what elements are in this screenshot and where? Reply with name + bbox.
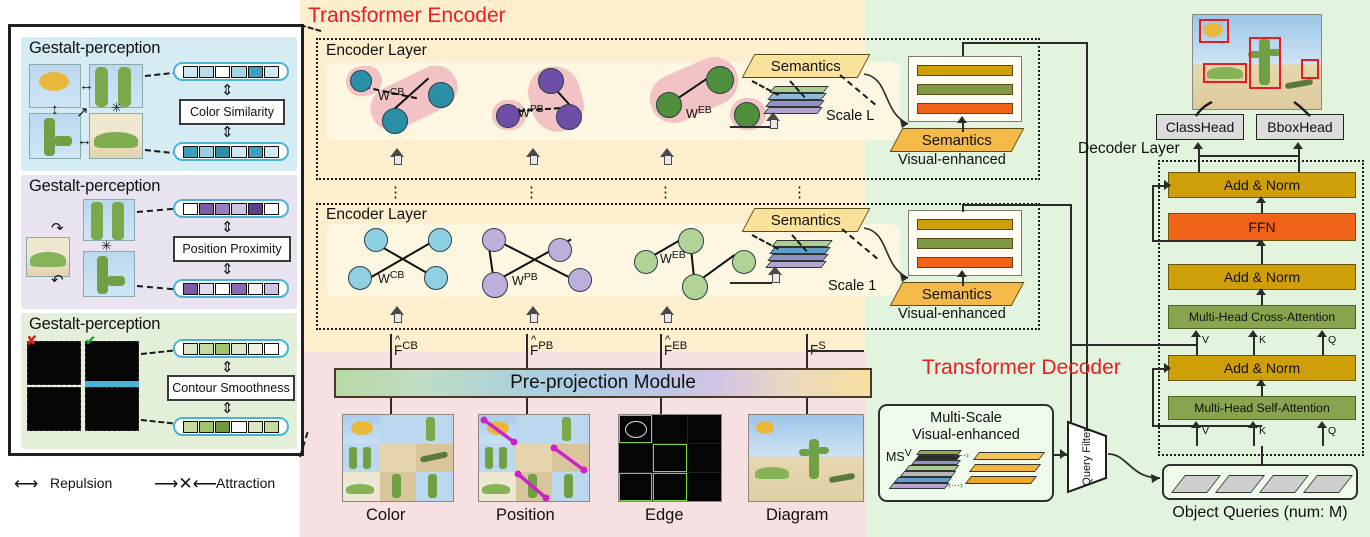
- decoder-layer-label: Decoder Layer: [1078, 140, 1180, 158]
- vkq-label-k: K: [1259, 334, 1266, 346]
- weight-label-eb: WEB: [686, 105, 712, 121]
- thumb-cactus-v: [83, 251, 135, 297]
- gestalt-block-position-proximity: Gestalt-perception ↷ ↶ ✳: [21, 175, 297, 309]
- repulsion-arrow-icon: ↗: [76, 103, 89, 121]
- connector: [660, 334, 662, 368]
- decoder-self-attention[interactable]: Multi-Head Self-Attention: [1168, 396, 1356, 420]
- query-filter[interactable]: Query Filter: [1066, 420, 1108, 494]
- feature-label-pb: ^FPB: [530, 340, 553, 358]
- dashed-connector: [137, 285, 173, 290]
- thumb-cactus-pair: [83, 199, 135, 241]
- object-queries-label: Object Queries (num: M): [1152, 504, 1368, 522]
- vkq-label-q: Q: [1328, 334, 1336, 346]
- graph-node: [496, 104, 520, 128]
- bbox-small-plant: [1301, 59, 1319, 79]
- head-feed-bridge: [1198, 155, 1298, 157]
- graph-node: [548, 238, 572, 262]
- updown-arrow-icon: ⇕: [221, 399, 234, 417]
- connector: [806, 398, 808, 414]
- gestalt-title: Gestalt-perception: [29, 315, 160, 334]
- thumb-cactus-v: [29, 113, 81, 159]
- updown-arrow-icon: ⇕: [221, 123, 234, 141]
- scale-feed-arrow: [766, 112, 780, 128]
- residual-line: [1152, 185, 1154, 241]
- head-feed-arrow-bbox: [1293, 142, 1303, 149]
- connector-arrow-k: [1248, 421, 1258, 428]
- vkq-label-v: V: [1202, 334, 1209, 346]
- decoder-add-norm-1[interactable]: Add & Norm: [1168, 355, 1356, 381]
- modality-label-color: Color: [366, 506, 405, 525]
- connector-arrow-v: [1191, 421, 1201, 428]
- classhead-connector: [1190, 100, 1224, 118]
- graph-node: [424, 266, 448, 290]
- feature-label-s: FS: [810, 340, 826, 358]
- object-queries-box: [1162, 464, 1358, 500]
- curved-connector-bottom: [860, 216, 920, 288]
- graph-node: [556, 104, 582, 130]
- fs-routing-line: [806, 350, 864, 352]
- weight-label-cb: WCB: [378, 87, 404, 103]
- weight-label-pb: WPB: [512, 272, 538, 288]
- repulsion-arrow-icon: ↕: [51, 101, 59, 118]
- graph-node: [382, 108, 408, 134]
- input-arrow-eb: [660, 306, 674, 322]
- connector-arrow: [1256, 196, 1266, 203]
- modality-tiles-edge: [618, 414, 722, 502]
- check-mark-icon: ✔: [85, 333, 96, 349]
- token-strip-bottom: [173, 417, 289, 436]
- encoder-output-line-bottom-v: [962, 204, 964, 212]
- object-query-item: [1171, 475, 1221, 493]
- updown-arrow-icon: ⇕: [221, 358, 234, 376]
- encoder-output-line-top: [962, 42, 1088, 44]
- updown-arrow-icon: ⇕: [221, 260, 234, 278]
- connector: [390, 334, 392, 368]
- input-arrow-pb: [526, 306, 540, 322]
- decoder-cross-attention[interactable]: Multi-Head Cross-Attention: [1168, 305, 1356, 329]
- thumb-edge-good-bottom: [85, 387, 139, 431]
- head-feed-arrow-class: [1193, 142, 1203, 149]
- pre-projection-label: Pre-projection Module: [510, 372, 696, 394]
- graph-node: [568, 268, 592, 292]
- graph-node: [348, 266, 372, 290]
- connector: [390, 398, 392, 414]
- visual-enhanced-box-top: [908, 56, 1022, 122]
- connector: [962, 276, 964, 286]
- ms-sheet-enhanced: [973, 452, 1045, 460]
- weight-label-cb: WCB: [378, 270, 404, 286]
- decoder-section-title: Transformer Decoder: [922, 356, 1121, 380]
- scale-feed-line: [730, 282, 772, 284]
- input-arrow-cb: [390, 306, 404, 322]
- queries-to-decoder-line: [1261, 446, 1263, 466]
- encoder-output-line-bottom: [962, 204, 1072, 206]
- graph-node: [428, 228, 452, 252]
- decoder-ffn[interactable]: FFN: [1168, 213, 1356, 241]
- connector-arrow-v: [1191, 330, 1201, 337]
- scale-sheet: [765, 100, 824, 107]
- repulsion-arrow-icon: ⟷: [14, 474, 38, 494]
- relation-label-contour-smoothness: Contour Smoothness: [167, 375, 295, 401]
- scale-sheet: [767, 254, 828, 261]
- modality-label-position: Position: [496, 506, 555, 525]
- residual-line: [1152, 368, 1154, 426]
- gestalt-block-contour-smoothness: Gestalt-perception ✘ ✔ ⇕ ⇕ Contour: [21, 313, 297, 449]
- gestalt-title: Gestalt-perception: [29, 39, 160, 58]
- token-strip-top: [173, 62, 289, 81]
- encoder-to-decoder-bus-2: [1070, 204, 1072, 430]
- feature-bar: [917, 257, 1013, 268]
- object-query-item: [1259, 475, 1309, 493]
- thumb-edge-bad-bottom: [27, 387, 81, 431]
- feature-bar: [917, 219, 1013, 230]
- token-strip-top: [173, 339, 289, 358]
- graph-node: [364, 228, 388, 252]
- cross-mark-icon: ✘: [26, 333, 37, 349]
- bboxhead-connector: [1284, 100, 1318, 118]
- token-strip-bottom: [173, 279, 289, 298]
- ms-tensor-label: MSV: [886, 448, 912, 464]
- decoder-add-norm-3[interactable]: Add & Norm: [1168, 172, 1356, 198]
- vkq-label-v: V: [1202, 425, 1209, 437]
- token-strip-top: [173, 199, 289, 218]
- position-links-overlay: [478, 414, 590, 502]
- connector-arrow-k: [1248, 330, 1258, 337]
- encoder-layer-label: Encoder Layer: [326, 206, 427, 224]
- graph-node: [428, 82, 454, 108]
- graph-node: [732, 250, 756, 274]
- attraction-arrow-icon: ↔: [77, 132, 92, 149]
- dashed-connector: [141, 419, 173, 424]
- legend-label-attraction: Attraction: [216, 475, 275, 491]
- feature-bar: [917, 238, 1013, 249]
- bbox-shrub: [1203, 63, 1247, 83]
- modality-tile-diagram: [748, 414, 864, 502]
- relation-label-color-similarity: Color Similarity: [179, 99, 285, 125]
- weight-label-eb: WEB: [660, 250, 686, 266]
- semantics-plane-top: Semantics: [742, 54, 871, 78]
- vkq-label-k: K: [1259, 425, 1266, 437]
- feature-label-eb: ^FEB: [664, 340, 687, 358]
- attraction-arrow-icon: ⟶✕⟵: [154, 474, 217, 494]
- ellipsis-pb: ⋮: [524, 183, 539, 201]
- attraction-arrow-icon: ✳: [101, 238, 112, 254]
- head-feed-line-class: [1198, 146, 1200, 172]
- gestalt-perception-panel: Gestalt-perception ↔ ↕ ↗ ✳ ↔: [8, 24, 304, 456]
- repulsion-arrow-icon: ↶: [51, 271, 64, 289]
- connector: [660, 398, 662, 414]
- feature-bar: [917, 84, 1013, 95]
- bbox-sun: [1199, 19, 1229, 43]
- head-feed-line-bbox: [1298, 146, 1300, 172]
- ms-sheet: [889, 483, 950, 489]
- graph-node: [706, 66, 734, 94]
- graph-node: [482, 228, 506, 252]
- connector-arrow-q: [1317, 421, 1327, 428]
- residual-arrow: [1164, 180, 1171, 190]
- graph-node: [682, 274, 708, 300]
- filter-to-queries-connector: [1106, 436, 1166, 484]
- input-arrow-eb: [660, 148, 674, 164]
- connector-arrow: [957, 270, 967, 277]
- repulsion-arrow-icon: ↷: [51, 219, 64, 237]
- feature-bar: [917, 103, 1013, 114]
- updown-arrow-icon: ⇕: [221, 218, 234, 236]
- highlight-bar: [85, 381, 139, 387]
- decoder-add-norm-2[interactable]: Add & Norm: [1168, 264, 1356, 290]
- connector: [526, 398, 528, 414]
- relation-label-position-proximity: Position Proximity: [173, 236, 291, 262]
- gestalt-block-color-similarity: Gestalt-perception ↔ ↕ ↗ ✳ ↔: [21, 37, 297, 171]
- encoder-output-line-top-v: [962, 42, 964, 56]
- graph-node: [538, 68, 564, 94]
- visual-enhanced-label-bottom: Visual-enhanced: [898, 306, 1006, 322]
- legend-label-repulsion: Repulsion: [50, 475, 112, 491]
- input-arrow-pb: [526, 148, 540, 164]
- multi-scale-visual-enhanced-box: Multi-Scale Visual-enhanced MSV ‹⋯› ‹⋯›: [878, 404, 1054, 502]
- dashed-connector: [141, 350, 173, 355]
- updown-arrow-icon: ⇕: [221, 81, 234, 99]
- object-query-item: [1215, 475, 1265, 493]
- weight-label-pb: WPB: [518, 104, 544, 120]
- connector: [962, 122, 964, 132]
- curved-connector-top: [860, 62, 920, 134]
- encoder-to-crossattn-line: [1070, 344, 1196, 346]
- encoder-to-decoder-bus: [1086, 42, 1088, 472]
- graph-node: [634, 250, 658, 274]
- modality-tiles-color: [342, 414, 454, 502]
- residual-arrow: [1164, 363, 1171, 373]
- ms-sheet-enhanced: [969, 464, 1041, 472]
- input-arrow-cb: [390, 148, 404, 164]
- multi-scale-title-line2: Visual-enhanced: [880, 427, 1052, 443]
- connector-arrow: [1256, 379, 1266, 386]
- graph-node: [482, 272, 508, 298]
- semantics-plane-bottom: Semantics: [742, 208, 871, 232]
- encoder-layer-label: Encoder Layer: [326, 42, 427, 60]
- feature-label-cb: ^FCB: [394, 340, 418, 358]
- graph-node: [734, 102, 760, 128]
- bidirectional-dotted-arrow-icon: ‹⋯›: [948, 480, 963, 491]
- pre-projection-module[interactable]: Pre-projection Module: [334, 368, 872, 398]
- gestalt-title: Gestalt-perception: [29, 177, 160, 196]
- visual-enhanced-box-bottom: [908, 210, 1022, 276]
- ellipsis-scale: ⋮: [792, 183, 807, 201]
- bbox-cactus: [1249, 37, 1281, 89]
- legend: ⟷ Repulsion ⟶✕⟵ Attraction: [14, 470, 300, 500]
- scale-feed-arrow: [768, 266, 782, 282]
- ms-sheet-enhanced: [965, 476, 1037, 484]
- object-query-item: [1303, 475, 1353, 493]
- modality-label-diagram: Diagram: [766, 506, 828, 525]
- output-detection-image: [1192, 14, 1322, 110]
- thumb-shrub: [89, 113, 143, 159]
- multi-scale-title-line1: Multi-Scale: [880, 410, 1052, 426]
- connector-arrow-q: [1317, 330, 1327, 337]
- residual-line: [1152, 240, 1262, 242]
- ellipsis-cb: ⋮: [388, 183, 403, 201]
- repulsion-arrow-icon: ↔: [79, 77, 94, 94]
- dashed-connector: [137, 208, 173, 213]
- ellipsis-eb: ⋮: [658, 183, 673, 201]
- feature-bar: [917, 65, 1013, 76]
- connector-arrow: [1256, 288, 1266, 295]
- vkq-label-q: Q: [1328, 425, 1336, 437]
- encoder-section-title: Transformer Encoder: [308, 4, 506, 28]
- attraction-arrow-icon: ✳: [111, 100, 122, 116]
- connector-arrow: [957, 116, 967, 123]
- visual-enhanced-label-top: Visual-enhanced: [898, 152, 1006, 168]
- modality-label-edge: Edge: [645, 506, 684, 525]
- graph-node: [350, 70, 372, 92]
- connector: [526, 334, 528, 368]
- graph-node: [656, 92, 682, 118]
- token-strip-bottom: [173, 142, 289, 161]
- bidirectional-dotted-arrow-icon: ‹⋯›: [954, 450, 969, 461]
